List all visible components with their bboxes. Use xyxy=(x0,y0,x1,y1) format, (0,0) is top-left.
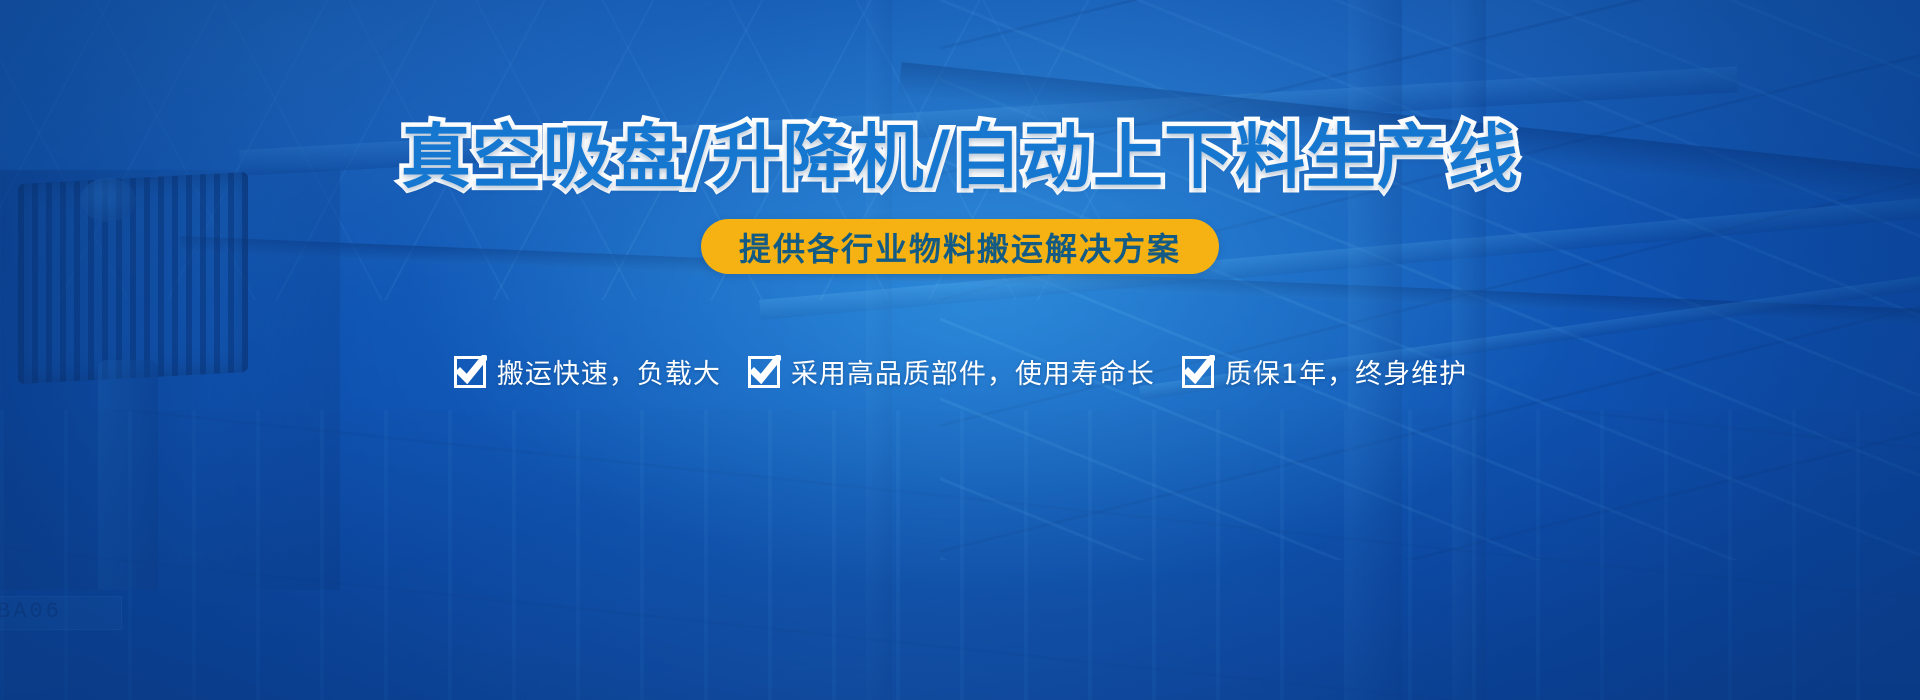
feature-list: 搬运快速，负载大 采用高品质部件，使用寿命长 质保1年，终身维护 xyxy=(453,352,1467,391)
feature-label: 搬运快速，负载大 xyxy=(497,352,721,391)
subtitle-pill: 提供各行业物料搬运解决方案 xyxy=(701,219,1219,274)
promo-banner: BA06 真空吸盘/升降机/自动上下料生产线 提供各行业物料搬运解决方案 搬运快… xyxy=(0,0,1920,700)
checkbox-check-icon xyxy=(453,355,487,389)
banner-headline: 真空吸盘/升降机/自动上下料生产线 xyxy=(401,122,1519,192)
feature-item: 搬运快速，负载大 xyxy=(453,352,721,391)
feature-item: 采用高品质部件，使用寿命长 xyxy=(747,352,1155,391)
checkbox-check-icon xyxy=(747,355,781,389)
checkbox-check-icon xyxy=(1181,355,1215,389)
feature-label: 采用高品质部件，使用寿命长 xyxy=(791,352,1155,391)
banner-content: 真空吸盘/升降机/自动上下料生产线 提供各行业物料搬运解决方案 搬运快速，负载大… xyxy=(0,0,1920,700)
feature-item: 质保1年，终身维护 xyxy=(1181,352,1467,391)
feature-label: 质保1年，终身维护 xyxy=(1225,352,1467,391)
subtitle-pill-label: 提供各行业物料搬运解决方案 xyxy=(739,224,1181,270)
